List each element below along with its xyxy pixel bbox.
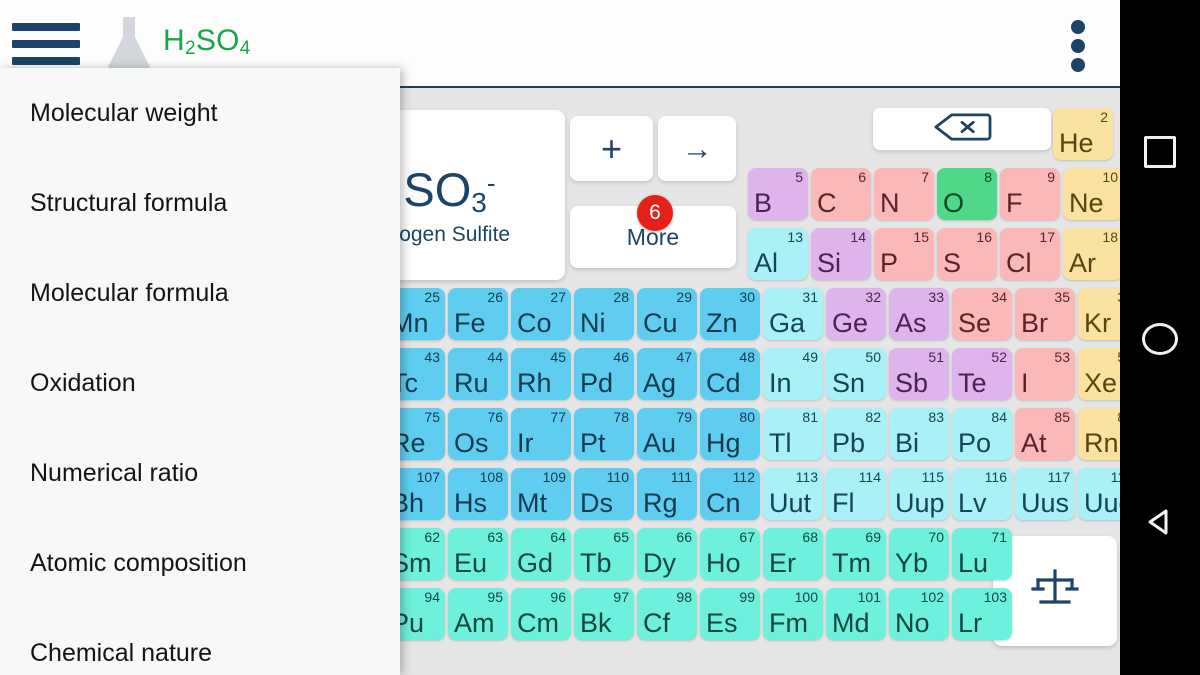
element-symbol: Ga: [769, 309, 805, 337]
element-tile-Cm[interactable]: 96Cm: [511, 588, 571, 640]
element-tile-As[interactable]: 33As: [889, 288, 949, 340]
element-atomic-number: 6: [858, 170, 866, 184]
element-symbol: Tl: [769, 429, 792, 457]
element-symbol: B: [754, 189, 772, 217]
element-tile-Ag[interactable]: 47Ag: [637, 348, 697, 400]
hamburger-bar: [12, 23, 80, 31]
element-atomic-number: 94: [424, 590, 440, 604]
element-tile-O[interactable]: 8O: [937, 168, 997, 220]
element-tile-Co[interactable]: 27Co: [511, 288, 571, 340]
balance-scale-icon: [1031, 567, 1079, 616]
element-atomic-number: 103: [984, 590, 1007, 604]
element-atomic-number: 52: [991, 350, 1007, 364]
element-atomic-number: 110: [607, 470, 629, 484]
element-symbol: P: [880, 249, 898, 277]
element-tile-Ga[interactable]: 31Ga: [763, 288, 823, 340]
element-tile-C[interactable]: 6C: [811, 168, 871, 220]
element-tile-Pd[interactable]: 46Pd: [574, 348, 634, 400]
element-atomic-number: 71: [991, 530, 1007, 544]
element-symbol: Mt: [517, 489, 547, 517]
element-symbol: O: [943, 189, 964, 217]
element-symbol: Lr: [958, 609, 982, 637]
element-atomic-number: 97: [613, 590, 629, 604]
element-tile-Rn[interactable]: 86Rn: [1078, 408, 1120, 460]
element-atomic-number: 49: [802, 350, 818, 364]
element-atomic-number: 75: [424, 410, 440, 424]
element-atomic-number: 76: [487, 410, 503, 424]
element-symbol: Cu: [643, 309, 678, 337]
element-atomic-number: 18: [1102, 230, 1118, 244]
element-atomic-number: 82: [865, 410, 881, 424]
hamburger-bar: [12, 57, 80, 65]
element-tile-Cf[interactable]: 98Cf: [637, 588, 697, 640]
element-symbol: Fe: [454, 309, 486, 337]
element-atomic-number: 25: [424, 290, 440, 304]
element-symbol: Rh: [517, 369, 552, 397]
element-tile-Tb[interactable]: 65Tb: [574, 528, 634, 580]
element-symbol: Ru: [454, 369, 489, 397]
formula-charge: -: [487, 168, 496, 198]
element-symbol: Se: [958, 309, 991, 337]
drawer-item-oxidation[interactable]: Oxidation: [0, 338, 400, 428]
element-tile-B[interactable]: 5B: [748, 168, 808, 220]
element-tile-Ar[interactable]: 18Ar: [1063, 228, 1120, 280]
element-symbol: Al: [754, 249, 778, 277]
element-tile-Ge[interactable]: 32Ge: [826, 288, 886, 340]
element-tile-Cl[interactable]: 17Cl: [1000, 228, 1060, 280]
backspace-icon: [931, 113, 993, 146]
element-tile-P[interactable]: 15P: [874, 228, 934, 280]
element-tile-Mt[interactable]: 109Mt: [511, 468, 571, 520]
element-symbol: Os: [454, 429, 489, 457]
element-tile-Au[interactable]: 79Au: [637, 408, 697, 460]
element-symbol: Bi: [895, 429, 919, 457]
element-symbol: Ds: [580, 489, 613, 517]
element-atomic-number: 48: [739, 350, 755, 364]
element-tile-Ne[interactable]: 10Ne: [1063, 168, 1120, 220]
periodic-row-2: 5B6C7N8O9F10Ne: [748, 168, 1120, 220]
element-atomic-number: 67: [739, 530, 755, 544]
backspace-button[interactable]: [873, 108, 1051, 150]
element-tile-Po[interactable]: 84Po: [952, 408, 1012, 460]
element-atomic-number: 100: [795, 590, 818, 604]
title-h: H: [163, 24, 185, 57]
android-navigation-bar: [1120, 0, 1200, 675]
element-tile-Uus[interactable]: 117Uus: [1015, 468, 1075, 520]
element-tile-I[interactable]: 53I: [1015, 348, 1075, 400]
circle-home-icon[interactable]: [1142, 323, 1178, 355]
element-tile-Am[interactable]: 95Am: [448, 588, 508, 640]
element-tile-Kr[interactable]: 36Kr: [1078, 288, 1120, 340]
element-atomic-number: 111: [671, 470, 692, 484]
element-tile-Br[interactable]: 35Br: [1015, 288, 1075, 340]
element-atomic-number: 95: [487, 590, 503, 604]
element-atomic-number: 7: [921, 170, 929, 184]
element-symbol: Eu: [454, 549, 487, 577]
element-symbol: Er: [769, 549, 796, 577]
element-atomic-number: 109: [543, 470, 566, 484]
element-symbol: Yb: [895, 549, 928, 577]
element-atomic-number: 65: [613, 530, 629, 544]
element-atomic-number: 17: [1039, 230, 1055, 244]
element-tile-In[interactable]: 49In: [763, 348, 823, 400]
add-button[interactable]: +: [570, 116, 653, 181]
element-symbol: Cm: [517, 609, 559, 637]
element-symbol: I: [1021, 369, 1029, 397]
element-atomic-number: 117: [1048, 470, 1070, 484]
element-symbol: Uus: [1021, 489, 1069, 517]
element-atomic-number: 33: [928, 290, 944, 304]
element-symbol: Ho: [706, 549, 741, 577]
element-tile-Te[interactable]: 52Te: [952, 348, 1012, 400]
element-atomic-number: 68: [802, 530, 818, 544]
element-atomic-number: 43: [424, 350, 440, 364]
element-symbol: Ar: [1069, 249, 1096, 277]
element-atomic-number: 35: [1054, 290, 1070, 304]
element-atomic-number: 10: [1102, 170, 1118, 184]
periodic-row-5: 43Tc44Ru45Rh46Pd47Ag48Cd49In50Sn51Sb52Te…: [385, 348, 1120, 400]
element-tile-Uut[interactable]: 113Uut: [763, 468, 823, 520]
element-atomic-number: 16: [976, 230, 992, 244]
element-symbol: Kr: [1084, 309, 1111, 337]
element-symbol: Rg: [643, 489, 678, 517]
arrow-button[interactable]: →: [658, 116, 736, 181]
element-atomic-number: 108: [480, 470, 503, 484]
element-tile-Ru[interactable]: 44Ru: [448, 348, 508, 400]
element-tile-Cn[interactable]: 112Cn: [700, 468, 760, 520]
element-atomic-number: 30: [739, 290, 755, 304]
element-symbol: Te: [958, 369, 987, 397]
hamburger-icon[interactable]: [12, 23, 80, 67]
element-symbol: Po: [958, 429, 991, 457]
element-tile-Tl[interactable]: 81Tl: [763, 408, 823, 460]
element-tile-Dy[interactable]: 66Dy: [637, 528, 697, 580]
element-atomic-number: 101: [858, 590, 881, 604]
periodic-row-actinides: 94Pu95Am96Cm97Bk98Cf99Es100Fm101Md102No1…: [385, 588, 1015, 640]
element-atomic-number: 5: [795, 170, 803, 184]
element-symbol: Xe: [1084, 369, 1117, 397]
element-tile-Al[interactable]: 13Al: [748, 228, 808, 280]
element-atomic-number: 66: [676, 530, 692, 544]
element-tile-Tm[interactable]: 69Tm: [826, 528, 886, 580]
element-tile-Er[interactable]: 68Er: [763, 528, 823, 580]
element-atomic-number: 83: [928, 410, 944, 424]
periodic-row-7: 107Bh108Hs109Mt110Ds111Rg112Cn113Uut114F…: [385, 468, 1120, 520]
element-tile-Cd[interactable]: 48Cd: [700, 348, 760, 400]
element-tile-Fl[interactable]: 114Fl: [826, 468, 886, 520]
overflow-dot: [1071, 39, 1085, 53]
element-symbol: Pd: [580, 369, 613, 397]
drawer-item-label: Structural formula: [30, 189, 227, 218]
element-tile-Hs[interactable]: 108Hs: [448, 468, 508, 520]
hamburger-bar: [12, 40, 80, 48]
title-sub-2: 2: [185, 38, 196, 59]
element-tile-Lv[interactable]: 116Lv: [952, 468, 1012, 520]
element-atomic-number: 99: [739, 590, 755, 604]
element-symbol: Sb: [895, 369, 928, 397]
element-atomic-number: 31: [802, 290, 818, 304]
element-atomic-number: 51: [928, 350, 944, 364]
drawer-item-label: Oxidation: [30, 369, 136, 398]
drawer-item-molecular-weight[interactable]: Molecular weight: [0, 68, 400, 158]
periodic-row-4: 25Mn26Fe27Co28Ni29Cu30Zn31Ga32Ge33As34Se…: [385, 288, 1120, 340]
periodic-row-helium: 2He: [1053, 108, 1116, 160]
element-atomic-number: 114: [859, 470, 881, 484]
drawer-item-numerical-ratio[interactable]: Numerical ratio: [0, 428, 400, 518]
element-tile-Hg[interactable]: 80Hg: [700, 408, 760, 460]
element-atomic-number: 102: [921, 590, 944, 604]
element-atomic-number: 50: [865, 350, 881, 364]
element-symbol: No: [895, 609, 930, 637]
element-atomic-number: 118: [1111, 470, 1120, 484]
element-symbol: Gd: [517, 549, 553, 577]
drawer-item-molecular-formula[interactable]: Molecular formula: [0, 248, 400, 338]
element-tile-At[interactable]: 85At: [1015, 408, 1075, 460]
element-symbol: Am: [454, 609, 495, 637]
element-symbol: Ir: [517, 429, 534, 457]
element-atomic-number: 9: [1047, 170, 1055, 184]
element-symbol: Pb: [832, 429, 865, 457]
element-atomic-number: 14: [850, 230, 866, 244]
element-tile-Uup[interactable]: 115Uup: [889, 468, 949, 520]
drawer-item-label: Molecular weight: [30, 99, 218, 128]
element-tile-Zn[interactable]: 30Zn: [700, 288, 760, 340]
element-tile-Xe[interactable]: 54Xe: [1078, 348, 1120, 400]
element-tile-Si[interactable]: 14Si: [811, 228, 871, 280]
element-symbol: Ne: [1069, 189, 1104, 217]
element-symbol: Sn: [832, 369, 865, 397]
element-symbol: Uuo: [1084, 489, 1120, 517]
periodic-row-3: 13Al14Si15P16S17Cl18Ar: [748, 228, 1120, 280]
element-tile-Sn[interactable]: 50Sn: [826, 348, 886, 400]
element-atomic-number: 45: [550, 350, 566, 364]
element-symbol: In: [769, 369, 792, 397]
element-tile-Ds[interactable]: 110Ds: [574, 468, 634, 520]
overflow-dot: [1071, 20, 1085, 34]
element-symbol: Cd: [706, 369, 741, 397]
element-atomic-number: 79: [676, 410, 692, 424]
element-symbol: He: [1059, 129, 1094, 157]
drawer-item-label: Numerical ratio: [30, 459, 198, 488]
element-atomic-number: 115: [922, 470, 944, 484]
element-atomic-number: 84: [991, 410, 1007, 424]
element-symbol: Dy: [643, 549, 676, 577]
element-symbol: Cn: [706, 489, 741, 517]
overflow-menu-icon[interactable]: [1066, 20, 1090, 70]
element-symbol: Ag: [643, 369, 676, 397]
element-atomic-number: 32: [865, 290, 881, 304]
element-atomic-number: 2: [1100, 110, 1108, 124]
element-tile-Ni[interactable]: 28Ni: [574, 288, 634, 340]
element-tile-Fm[interactable]: 100Fm: [763, 588, 823, 640]
navigation-drawer: Molecular weightStructural formulaMolecu…: [0, 68, 400, 675]
element-tile-Lu[interactable]: 71Lu: [952, 528, 1012, 580]
element-atomic-number: 44: [487, 350, 503, 364]
periodic-row-6: 75Re76Os77Ir78Pt79Au80Hg81Tl82Pb83Bi84Po…: [385, 408, 1120, 460]
element-symbol: S: [943, 249, 961, 277]
element-atomic-number: 63: [487, 530, 503, 544]
element-tile-Se[interactable]: 34Se: [952, 288, 1012, 340]
element-tile-Uuo[interactable]: 118Uuo: [1078, 468, 1120, 520]
drawer-item-chemical-nature[interactable]: Chemical nature: [0, 608, 400, 675]
title-so: SO: [196, 24, 240, 57]
element-symbol: Uut: [769, 489, 811, 517]
element-symbol: Lv: [958, 489, 987, 517]
element-atomic-number: 78: [613, 410, 629, 424]
element-tile-Lr[interactable]: 103Lr: [952, 588, 1012, 640]
element-tile-Gd[interactable]: 64Gd: [511, 528, 571, 580]
element-atomic-number: 29: [676, 290, 692, 304]
element-atomic-number: 69: [865, 530, 881, 544]
element-tile-No[interactable]: 102No: [889, 588, 949, 640]
element-tile-Cu[interactable]: 29Cu: [637, 288, 697, 340]
overflow-dot: [1071, 58, 1085, 72]
element-atomic-number: 98: [676, 590, 692, 604]
flask-icon: [104, 14, 154, 72]
element-symbol: F: [1006, 189, 1023, 217]
element-atomic-number: 113: [796, 470, 818, 484]
element-tile-Sb[interactable]: 51Sb: [889, 348, 949, 400]
element-atomic-number: 47: [676, 350, 692, 364]
square-recents-icon[interactable]: [1144, 136, 1176, 168]
element-atomic-number: 96: [550, 590, 566, 604]
element-symbol: Tb: [580, 549, 612, 577]
element-atomic-number: 28: [613, 290, 629, 304]
element-atomic-number: 112: [733, 470, 755, 484]
element-symbol: Hs: [454, 489, 487, 517]
element-atomic-number: 85: [1054, 410, 1070, 424]
formula-subscript: 3: [471, 187, 487, 218]
element-tile-Fe[interactable]: 26Fe: [448, 288, 508, 340]
element-symbol: Br: [1021, 309, 1048, 337]
element-atomic-number: 26: [487, 290, 503, 304]
element-symbol: Bk: [580, 609, 612, 637]
element-tile-Rg[interactable]: 111Rg: [637, 468, 697, 520]
element-symbol: Uup: [895, 489, 945, 517]
element-symbol: Ni: [580, 309, 606, 337]
element-atomic-number: 116: [985, 470, 1007, 484]
element-symbol: Pt: [580, 429, 606, 457]
element-symbol: Rn: [1084, 429, 1119, 457]
element-symbol: As: [895, 309, 927, 337]
element-symbol: C: [817, 189, 837, 217]
element-tile-Rh[interactable]: 45Rh: [511, 348, 571, 400]
element-tile-Pb[interactable]: 82Pb: [826, 408, 886, 460]
element-symbol: Es: [706, 609, 738, 637]
element-tile-Bk[interactable]: 97Bk: [574, 588, 634, 640]
element-symbol: Co: [517, 309, 552, 337]
element-symbol: Zn: [706, 309, 738, 337]
element-symbol: Cl: [1006, 249, 1032, 277]
element-atomic-number: 62: [424, 530, 440, 544]
element-atomic-number: 27: [550, 290, 566, 304]
element-tile-Bi[interactable]: 83Bi: [889, 408, 949, 460]
element-symbol: Ge: [832, 309, 868, 337]
element-symbol: Lu: [958, 549, 988, 577]
element-symbol: At: [1021, 429, 1047, 457]
title-sub-4: 4: [240, 38, 251, 59]
element-atomic-number: 15: [913, 230, 929, 244]
element-tile-Pt[interactable]: 78Pt: [574, 408, 634, 460]
element-tile-Es[interactable]: 99Es: [700, 588, 760, 640]
drawer-item-structural-formula[interactable]: Structural formula: [0, 158, 400, 248]
element-atomic-number: 70: [928, 530, 944, 544]
element-tile-F[interactable]: 9F: [1000, 168, 1060, 220]
element-tile-Yb[interactable]: 70Yb: [889, 528, 949, 580]
element-tile-Eu[interactable]: 63Eu: [448, 528, 508, 580]
drawer-item-label: Atomic composition: [30, 549, 247, 578]
element-atomic-number: 13: [787, 230, 803, 244]
element-atomic-number: 64: [550, 530, 566, 544]
element-symbol: Fm: [769, 609, 808, 637]
element-symbol: Cf: [643, 609, 670, 637]
drawer-item-atomic-composition[interactable]: Atomic composition: [0, 518, 400, 608]
element-atomic-number: 81: [802, 410, 818, 424]
element-tile-Os[interactable]: 76Os: [448, 408, 508, 460]
element-tile-Md[interactable]: 101Md: [826, 588, 886, 640]
element-atomic-number: 34: [991, 290, 1007, 304]
element-symbol: Hg: [706, 429, 741, 457]
element-atomic-number: 46: [613, 350, 629, 364]
element-atomic-number: 107: [417, 470, 440, 484]
element-symbol: N: [880, 189, 900, 217]
page-title: H2SO4: [163, 24, 251, 60]
element-tile-He[interactable]: 2He: [1053, 108, 1113, 160]
element-atomic-number: 8: [984, 170, 992, 184]
drawer-item-label: Molecular formula: [30, 279, 229, 308]
element-symbol: Au: [643, 429, 676, 457]
element-atomic-number: 77: [550, 410, 566, 424]
element-tile-Ir[interactable]: 77Ir: [511, 408, 571, 460]
element-symbol: Md: [832, 609, 870, 637]
element-atomic-number: 53: [1054, 350, 1070, 364]
element-symbol: Tm: [832, 549, 871, 577]
app-screen: H2SO4 HSO3- Hydrogen Sulfite + → More 6: [0, 0, 1120, 675]
element-symbol: Fl: [832, 489, 855, 517]
more-badge-count: 6: [637, 195, 673, 231]
periodic-row-lanthanides: 62Sm63Eu64Gd65Tb66Dy67Ho68Er69Tm70Yb71Lu: [385, 528, 1015, 580]
element-tile-N[interactable]: 7N: [874, 168, 934, 220]
element-tile-Ho[interactable]: 67Ho: [700, 528, 760, 580]
element-atomic-number: 80: [739, 410, 755, 424]
drawer-item-label: Chemical nature: [30, 639, 212, 668]
element-tile-S[interactable]: 16S: [937, 228, 997, 280]
element-symbol: Si: [817, 249, 841, 277]
